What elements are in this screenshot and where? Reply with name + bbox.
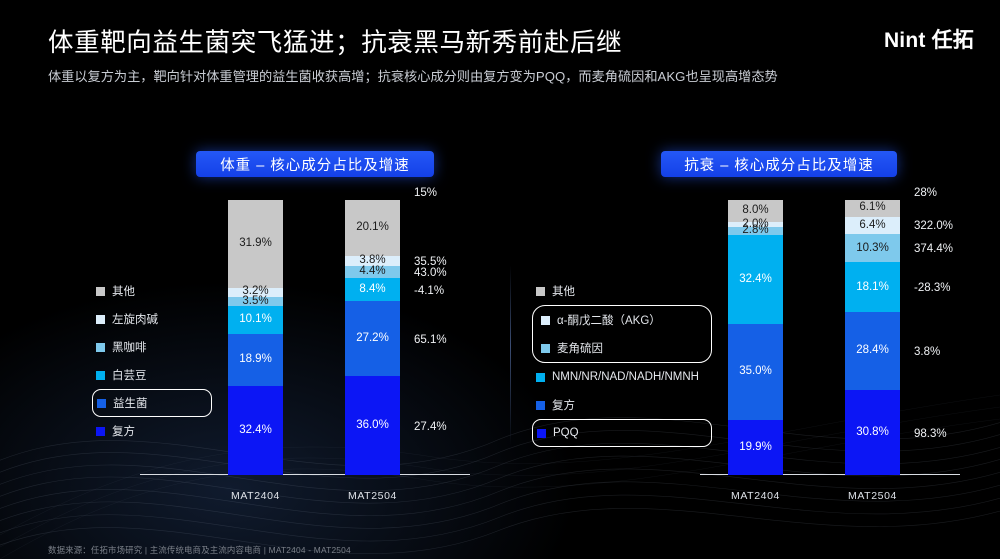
legend-swatch-icon <box>541 344 550 353</box>
bar-segment-value: 18.9% <box>239 354 272 366</box>
bar-segment-value: 6.1% <box>859 202 885 214</box>
legend-item-label: 其他 <box>112 283 135 299</box>
legend-swatch-icon <box>536 373 545 382</box>
stacked-bar: 31.9%3.2%3.5%10.1%18.9%32.4% <box>228 200 283 475</box>
segment-growth-label: 27.4% <box>414 421 447 433</box>
left-chart-axis <box>140 474 470 475</box>
bar-segment-value: 32.4% <box>739 274 772 286</box>
bar-segment-value: 27.2% <box>356 333 389 345</box>
bar-segment: 6.4% <box>845 217 900 235</box>
legend-swatch-icon <box>96 287 105 296</box>
bar-segment: 4.4% <box>345 266 400 278</box>
bar-segment: 3.5% <box>228 297 283 307</box>
legend-item-label: 复方 <box>112 423 135 439</box>
x-axis-label: MAT2404 <box>728 490 783 502</box>
legend-item[interactable]: α-酮戊二酸（AKG） <box>537 306 703 334</box>
x-axis-label: MAT2504 <box>345 490 400 502</box>
bar-segment-value: 20.1% <box>356 222 389 234</box>
bar-segment-value: 28.4% <box>856 345 889 357</box>
segment-growth-label: 322.0% <box>914 220 953 232</box>
source-note: 数据来源：任拓市场研究 | 主流传统电商及主流内容电商 | MAT2404 - … <box>48 544 351 556</box>
legend-item[interactable]: 复方 <box>532 391 712 419</box>
legend-item-label: PQQ <box>553 427 579 439</box>
bar-segment-value: 30.8% <box>856 427 889 439</box>
total-growth-label: 28% <box>914 187 937 199</box>
segment-growth-label: 65.1% <box>414 334 447 346</box>
bar-segment: 2.8% <box>728 227 783 235</box>
legend-item-label: 复方 <box>552 397 575 413</box>
bar-segment-value: 6.4% <box>859 220 885 232</box>
bar-segment-value: 32.4% <box>239 425 272 437</box>
right-chart-legend: 其他α-酮戊二酸（AKG）麦角硫因NMN/NR/NAD/NADH/NMNH复方P… <box>532 277 712 447</box>
bar-segment-value: 35.0% <box>739 366 772 378</box>
left-chart-heading: 体重 – 核心成分占比及增速 <box>196 151 434 177</box>
bar-segment-value: 8.4% <box>359 284 385 296</box>
bar-segment-value: 31.9% <box>239 238 272 250</box>
legend-item-label: 其他 <box>552 283 575 299</box>
legend-item-label: NMN/NR/NAD/NADH/NMNH <box>552 371 699 383</box>
page-subtitle: 体重以复方为主，靶向针对体重管理的益生菌收获高增；抗衰核心成分则由复方变为PQQ… <box>48 66 868 88</box>
stacked-bar: 8.0%2.0%2.8%32.4%35.0%19.9% <box>728 200 783 475</box>
bar-segment: 28.4% <box>845 312 900 390</box>
bar-segment: 18.1% <box>845 262 900 312</box>
legend-item-label: 麦角硫因 <box>557 340 603 356</box>
bar-segment: 32.4% <box>228 386 283 475</box>
segment-growth-label: 374.4% <box>914 243 953 255</box>
legend-swatch-icon <box>96 427 105 436</box>
bar-segment: 35.0% <box>728 324 783 420</box>
bar-segment: 10.1% <box>228 306 283 334</box>
legend-swatch-icon <box>536 401 545 410</box>
bar-segment: 8.4% <box>345 278 400 301</box>
legend-swatch-icon <box>537 429 546 438</box>
legend-swatch-icon <box>96 343 105 352</box>
legend-item-highlighted[interactable]: PQQ <box>532 419 712 447</box>
legend-item[interactable]: NMN/NR/NAD/NADH/NMNH <box>532 363 712 391</box>
bar-segment: 31.9% <box>228 200 283 288</box>
bar-segment-value: 19.9% <box>739 442 772 454</box>
segment-growth-label: 3.8% <box>914 346 940 358</box>
bar-segment: 30.8% <box>845 390 900 475</box>
right-chart-plot: 8.0%2.0%2.8%32.4%35.0%19.9%MAT24046.1%6.… <box>700 185 960 510</box>
panel-divider <box>510 265 511 445</box>
brand-logo: Nint 任拓 <box>884 24 974 54</box>
x-axis-label: MAT2404 <box>228 490 283 502</box>
bar-segment: 18.9% <box>228 334 283 386</box>
right-chart-heading: 抗衰 – 核心成分占比及增速 <box>661 151 897 177</box>
stacked-bar: 6.1%6.4%10.3%18.1%28.4%30.8% <box>845 200 900 475</box>
legend-item-label: α-酮戊二酸（AKG） <box>557 312 661 328</box>
bar-segment-value: 36.0% <box>356 420 389 432</box>
bar-segment: 27.2% <box>345 301 400 376</box>
bar-segment-value: 10.3% <box>856 243 889 255</box>
segment-growth-label: -28.3% <box>914 282 950 294</box>
bar-segment-value: 18.1% <box>856 282 889 294</box>
bar-segment: 36.0% <box>345 376 400 475</box>
legend-highlight-group[interactable]: α-酮戊二酸（AKG）麦角硫因 <box>532 305 712 363</box>
segment-growth-label: 35.5% <box>414 256 447 268</box>
legend-swatch-icon <box>96 315 105 324</box>
segment-growth-label: 43.0% <box>414 267 447 279</box>
legend-item[interactable]: 麦角硫因 <box>537 334 703 362</box>
legend-swatch-icon <box>96 371 105 380</box>
segment-growth-label: -4.1% <box>414 285 444 297</box>
stacked-bar: 20.1%3.8%4.4%8.4%27.2%36.0% <box>345 200 400 475</box>
slide-root: 体重靶向益生菌突飞猛进；抗衰黑马新秀前赴后继 体重以复方为主，靶向针对体重管理的… <box>0 0 1000 559</box>
bar-segment-value: 10.1% <box>239 314 272 326</box>
total-growth-label: 15% <box>414 187 437 199</box>
bar-segment: 6.1% <box>845 200 900 217</box>
left-chart-plot: 31.9%3.2%3.5%10.1%18.9%32.4%MAT240420.1%… <box>140 185 470 510</box>
page-title: 体重靶向益生菌突飞猛进；抗衰黑马新秀前赴后继 <box>48 22 622 59</box>
legend-swatch-icon <box>97 399 106 408</box>
bar-segment-value: 8.0% <box>742 205 768 217</box>
bar-segment: 32.4% <box>728 235 783 324</box>
x-axis-label: MAT2504 <box>845 490 900 502</box>
bar-segment: 10.3% <box>845 234 900 262</box>
bar-segment: 19.9% <box>728 420 783 475</box>
bar-segment: 20.1% <box>345 200 400 255</box>
legend-item[interactable]: 其他 <box>532 277 712 305</box>
bar-segment-value: 4.4% <box>359 266 385 278</box>
legend-swatch-icon <box>536 287 545 296</box>
segment-growth-label: 98.3% <box>914 428 947 440</box>
legend-swatch-icon <box>541 316 550 325</box>
